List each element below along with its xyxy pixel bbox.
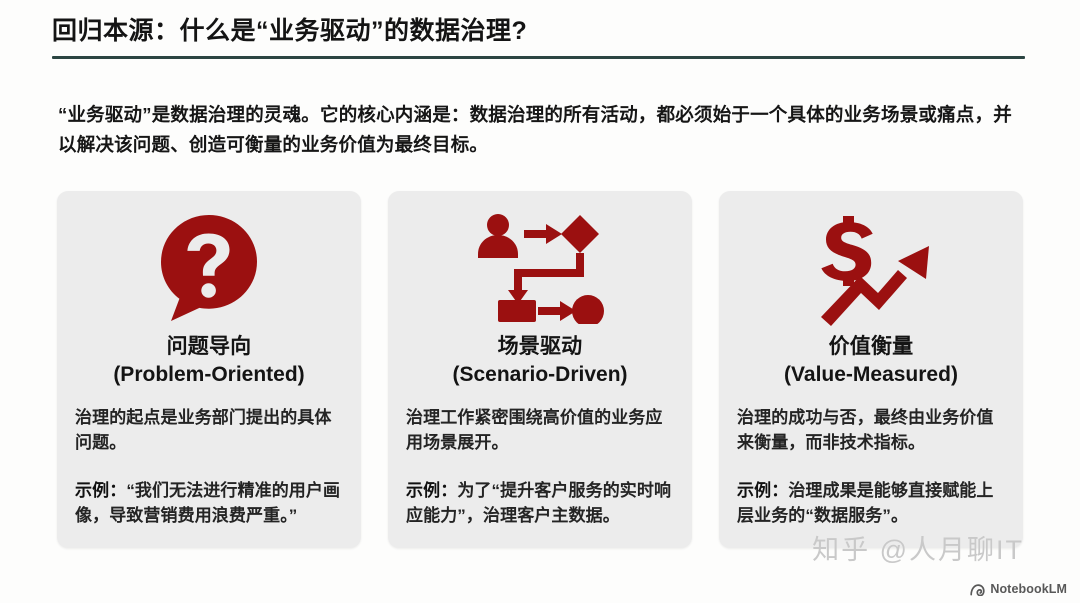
card-body-text: 治理的起点是业务部门提出的具体问题。 bbox=[75, 405, 343, 456]
card-example-label: 示例： bbox=[737, 481, 788, 500]
intro-paragraph: “业务驱动”是数据治理的灵魂。它的核心内涵是：数据治理的所有活动，都必须始于一个… bbox=[58, 100, 1020, 160]
card-scenario-driven: 场景驱动 (Scenario-Driven) 治理工作紧密围绕高价值的业务应用场… bbox=[388, 191, 692, 548]
card-example: 示例：“我们无法进行精准的用户画像，导致营销费用浪费严重。” bbox=[75, 478, 343, 529]
card-title: 价值衡量 (Value-Measured) bbox=[784, 333, 958, 389]
title-divider bbox=[52, 56, 1025, 59]
card-value-measured: 价值衡量 (Value-Measured) 治理的成功与否，最终由业务价值来衡量… bbox=[719, 191, 1023, 548]
card-title-en: (Problem-Oriented) bbox=[113, 361, 304, 389]
page-title: 回归本源：什么是“业务驱动”的数据治理? bbox=[52, 16, 1026, 47]
card-title-cn: 价值衡量 bbox=[829, 335, 914, 358]
zhihu-watermark: 知乎 @人月聊IT bbox=[812, 528, 1024, 567]
title-block: 回归本源：什么是“业务驱动”的数据治理? bbox=[52, 16, 1026, 59]
card-example: 示例：为了“提升客户服务的实时响应能力”，治理客户主数据。 bbox=[406, 478, 674, 529]
notebooklm-logo-icon bbox=[970, 583, 985, 596]
card-problem-oriented: 问题导向 (Problem-Oriented) 治理的起点是业务部门提出的具体问… bbox=[57, 191, 361, 548]
card-body-text: 治理工作紧密围绕高价值的业务应用场景展开。 bbox=[406, 405, 674, 456]
notebooklm-badge: NotebookLM bbox=[970, 582, 1067, 596]
card-row: 问题导向 (Problem-Oriented) 治理的起点是业务部门提出的具体问… bbox=[57, 191, 1025, 548]
flowchart-scenario-icon bbox=[476, 209, 604, 327]
slide-canvas: 回归本源：什么是“业务驱动”的数据治理? “业务驱动”是数据治理的灵魂。它的核心… bbox=[0, 0, 1080, 603]
card-body-text: 治理的成功与否，最终由业务价值来衡量，而非技术指标。 bbox=[737, 405, 1005, 456]
card-title: 问题导向 (Problem-Oriented) bbox=[113, 333, 304, 389]
card-example: 示例：治理成果是能够直接赋能上层业务的“数据服务”。 bbox=[737, 478, 1005, 529]
dollar-growth-arrow-icon bbox=[809, 209, 933, 327]
card-title-en: (Scenario-Driven) bbox=[452, 361, 627, 389]
card-title: 场景驱动 (Scenario-Driven) bbox=[452, 333, 627, 389]
card-example-label: 示例： bbox=[406, 481, 457, 500]
card-title-cn: 问题导向 bbox=[167, 335, 252, 358]
card-title-en: (Value-Measured) bbox=[784, 361, 958, 389]
card-example-label: 示例： bbox=[75, 481, 126, 500]
notebooklm-label: NotebookLM bbox=[990, 582, 1067, 596]
card-title-cn: 场景驱动 bbox=[498, 335, 583, 358]
question-speech-bubble-icon bbox=[149, 209, 269, 327]
